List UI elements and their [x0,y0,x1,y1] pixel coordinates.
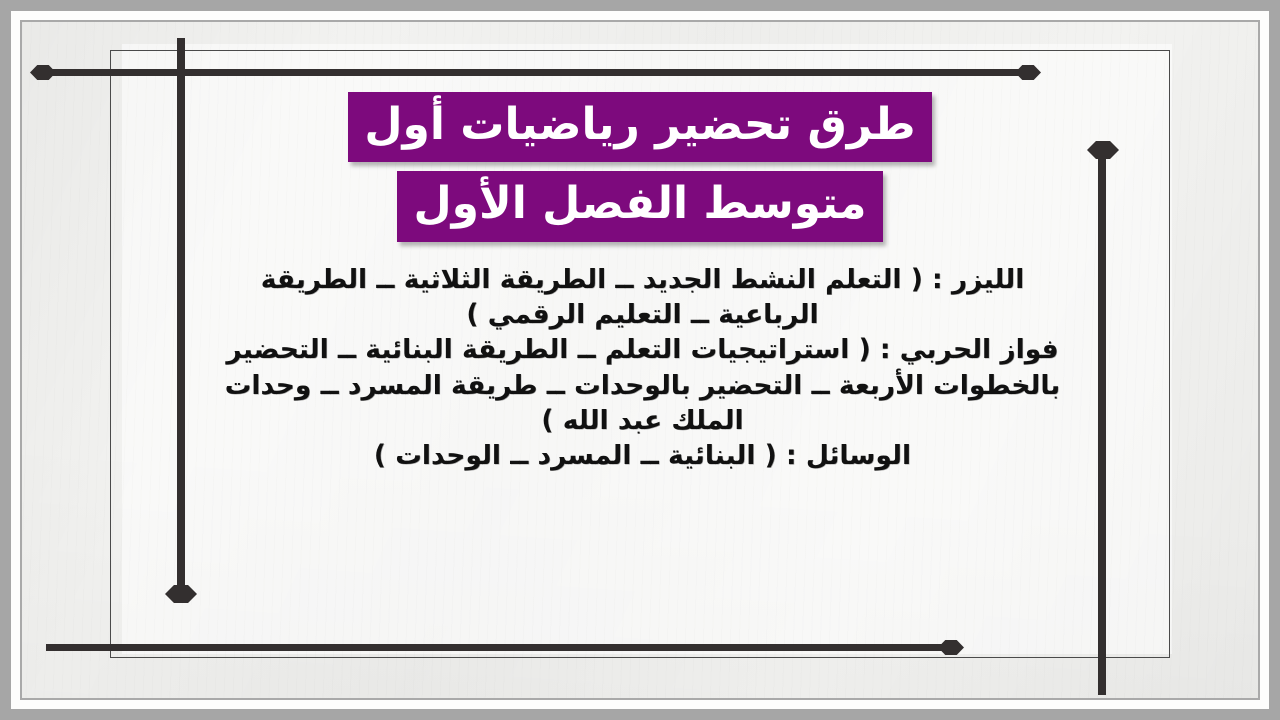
body-paragraph-fawaz-alharbi-methods: فواز الحربي : ( استراتيجيات التعلم ــ ال… [215,332,1070,438]
top-horizontal-rule [42,69,1027,76]
bottom-horizontal-rule [46,644,951,651]
slide: طرق تحضير رياضيات أول متوسط الفصل الأول … [0,0,1280,720]
body-paragraph-laser-methods: الليزر : ( التعلم النشط الجديد ــ الطريق… [215,262,1070,332]
body-paragraph-teaching-aids: الوسائل : ( البنائية ــ المسرد ــ الوحدا… [215,438,1070,473]
slide-title-line-1: طرق تحضير رياضيات أول [348,92,931,162]
slide-title-block: طرق تحضير رياضيات أول متوسط الفصل الأول [0,92,1280,242]
slide-title-line-2: متوسط الفصل الأول [397,171,882,241]
slide-body-block: الليزر : ( التعلم النشط الجديد ــ الطريق… [215,262,1070,473]
